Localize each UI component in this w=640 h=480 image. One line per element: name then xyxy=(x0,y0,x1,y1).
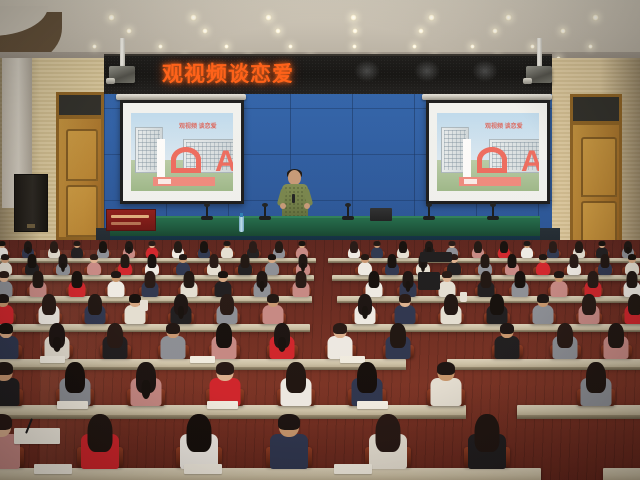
ceiling-downlight xyxy=(505,14,512,21)
audience-member-hair xyxy=(399,294,411,303)
audience-member-hair xyxy=(490,294,504,315)
audience-member-hair xyxy=(144,271,155,288)
audience-member xyxy=(207,363,242,403)
audience-member-hair xyxy=(147,254,156,268)
audience-member xyxy=(101,324,130,357)
ceiling-downlight xyxy=(92,44,97,49)
audience-member xyxy=(0,363,21,403)
ceiling-downlight xyxy=(588,44,593,49)
audience-member xyxy=(551,324,580,357)
ceiling-downlight xyxy=(352,28,358,34)
audience-member-hair xyxy=(474,241,482,253)
left-projection-screen: 观视频 谈恋爱 A xyxy=(120,100,244,204)
audience-member xyxy=(128,363,163,403)
audience-member-hair xyxy=(549,241,557,253)
audience-member-hair xyxy=(107,323,123,348)
door-right-transom xyxy=(570,94,622,124)
ceiling-downlight xyxy=(265,14,272,21)
audience-member xyxy=(291,272,311,294)
led-banner: 观视频谈恋爱 xyxy=(104,54,552,94)
audience-member xyxy=(510,272,530,294)
presenter-laptop xyxy=(370,208,392,221)
audience-member xyxy=(70,241,84,257)
right-projector-pole xyxy=(537,38,542,68)
audience-member xyxy=(353,295,377,322)
audience-member-hair xyxy=(387,254,396,268)
audience-member-hair xyxy=(350,241,358,253)
audience-member-torso xyxy=(71,247,83,258)
audience-member-hair xyxy=(295,271,306,288)
audience-member-hair xyxy=(444,294,458,315)
audience-member xyxy=(485,295,509,322)
audience-member xyxy=(623,295,640,322)
audience-member-ponytail xyxy=(26,247,30,254)
audience-member xyxy=(531,295,555,322)
desk-paper xyxy=(184,464,222,474)
audience-member-torso xyxy=(263,305,284,324)
desk-paper xyxy=(34,464,72,474)
audience-member-ponytail xyxy=(626,247,630,254)
audience-member-hair xyxy=(569,254,578,268)
led-glare-3 xyxy=(472,60,498,82)
desk-paper xyxy=(357,401,388,409)
desk-edge xyxy=(517,415,640,419)
slide-base-plate-r xyxy=(464,179,477,184)
audience-member-hair xyxy=(73,241,80,246)
audience-member-hair xyxy=(537,294,549,303)
audience-member xyxy=(78,415,122,464)
wall-speaker-badge xyxy=(27,224,35,228)
audience-member-hair xyxy=(586,362,606,393)
audience-member xyxy=(140,272,160,294)
ceiling-downlight xyxy=(560,28,566,34)
note-paper xyxy=(14,428,60,444)
audience-member-hair xyxy=(361,254,369,260)
audience-member-hair xyxy=(448,241,455,246)
audience-member-hair xyxy=(626,271,637,288)
audience-member xyxy=(37,295,61,322)
audience-member-torso xyxy=(0,378,19,406)
podium-sign-line-2 xyxy=(111,222,141,225)
audience-member-torso xyxy=(521,247,533,258)
desk-cup xyxy=(460,292,467,302)
audience-member-torso xyxy=(270,434,308,469)
audience-member-torso xyxy=(495,336,520,359)
presenter-hand-left xyxy=(280,203,286,209)
audience-member xyxy=(43,324,72,357)
ceiling-downlight xyxy=(352,44,357,49)
audience-member xyxy=(236,255,253,274)
audience-member-hair xyxy=(298,241,305,246)
audience-member-hair xyxy=(507,254,516,268)
audience-member-ponytail xyxy=(141,380,150,399)
slide-letter-a-l: A xyxy=(215,147,233,177)
audience-member-hair xyxy=(437,362,455,375)
door-right-panel-upper xyxy=(581,137,617,197)
audience-member-ponytail xyxy=(61,263,65,272)
ceiling-downlight xyxy=(108,14,115,21)
led-glare-2 xyxy=(414,60,440,82)
audience-member-ponytail xyxy=(421,263,425,272)
audience-member-hair xyxy=(249,241,257,253)
ceiling-downlight xyxy=(275,28,281,34)
audience-member-hair xyxy=(186,414,211,452)
audience-member-hair xyxy=(174,241,182,253)
audience-member xyxy=(278,363,313,403)
door-left-transom xyxy=(56,92,104,118)
presenter-head xyxy=(288,170,301,185)
audience-member-torso xyxy=(536,262,550,275)
door-left-panel-upper xyxy=(66,129,98,181)
desk-row xyxy=(0,468,541,480)
audience-member-hair xyxy=(179,254,187,260)
audience-member-hair xyxy=(216,323,232,348)
led-banner-text: 观视频谈恋爱 xyxy=(162,62,294,88)
slide-letter-a-r: A xyxy=(521,147,539,177)
left-projector-lens xyxy=(106,78,115,84)
ceiling-downlight xyxy=(412,44,417,49)
audience-member xyxy=(384,324,413,357)
audience-member-hair xyxy=(598,241,605,246)
audience-member-hair xyxy=(0,414,12,430)
audience-member xyxy=(602,324,631,357)
audience-member-hair xyxy=(275,241,283,253)
audience-member xyxy=(267,415,311,464)
audience-member-hair xyxy=(220,294,234,315)
audience-member-hair xyxy=(27,254,36,268)
audience-member-hair xyxy=(209,254,218,268)
audience-member-hair xyxy=(628,254,636,260)
audience-member-hair xyxy=(278,414,300,430)
audience-member-hair xyxy=(65,362,85,393)
audience-member-torso xyxy=(0,305,14,324)
audience-member-hair xyxy=(183,271,194,288)
desk-microphone-base-4 xyxy=(423,216,435,220)
audience-member-ponytail xyxy=(362,306,368,319)
audience-member-hair xyxy=(587,271,598,288)
desk-paper xyxy=(40,356,65,363)
audience-member-hair xyxy=(368,271,379,288)
audience-member xyxy=(465,415,509,464)
podium-sign-line-1 xyxy=(111,215,149,218)
audience-member xyxy=(261,295,285,322)
ceiling-downlight xyxy=(418,28,424,34)
audience-member-hair xyxy=(500,241,508,253)
desk-microphone-base-3 xyxy=(342,216,354,220)
desk-paper xyxy=(207,401,238,409)
audience-member xyxy=(268,324,297,357)
audience-member xyxy=(549,272,569,294)
audience-member-hair xyxy=(480,254,489,268)
audience-member-hair xyxy=(90,254,98,260)
audience-member xyxy=(622,272,640,294)
podium-sign xyxy=(106,209,156,231)
ceiling-downlight xyxy=(288,44,293,49)
audience-member-ponytail xyxy=(259,281,264,292)
audience-member xyxy=(0,324,21,357)
audience-member xyxy=(0,272,14,294)
right-projector-lens xyxy=(523,78,532,84)
backpack xyxy=(418,272,440,290)
audience-member xyxy=(215,295,239,322)
audience-member-hair xyxy=(87,414,112,452)
audience-member xyxy=(57,363,92,403)
audience-member-hair xyxy=(480,271,491,288)
audience-member-hair xyxy=(42,294,56,315)
audience-member-torso xyxy=(430,378,461,406)
audience-member-hair xyxy=(628,294,640,315)
right-projection-screen: 观视频 谈恋爱 A xyxy=(426,100,550,204)
desk-microphone-base-1 xyxy=(201,216,213,220)
audience-member-hair xyxy=(474,414,499,452)
audience-member xyxy=(252,272,272,294)
audience-member xyxy=(364,272,384,294)
ceiling-downlight xyxy=(202,28,208,34)
lecture-hall-photo: 观视频谈恋爱 观视频 谈恋爱 A 观视 xyxy=(0,0,640,480)
audience-member-torso xyxy=(395,305,416,324)
right-slide: 观视频 谈恋爱 A xyxy=(437,113,539,191)
audience-member-hair xyxy=(218,271,228,278)
audience-member xyxy=(213,272,233,294)
audience-member-hair xyxy=(240,254,249,268)
audience-member-hair xyxy=(539,254,547,260)
desk-microphone-base-5 xyxy=(487,216,499,220)
audience-member xyxy=(393,295,417,322)
slide-base-plate-l xyxy=(158,179,171,184)
desk-row xyxy=(603,468,640,480)
audience-member-hair xyxy=(50,241,58,253)
wall-speaker xyxy=(14,174,48,232)
audience-member-torso xyxy=(0,336,19,359)
slide-letter-i-l xyxy=(157,139,165,177)
presenter-hand-right xyxy=(304,203,310,209)
audience-member xyxy=(85,255,102,274)
audience-member xyxy=(577,295,601,322)
desk-paper xyxy=(190,356,215,363)
audience-member xyxy=(159,324,188,357)
audience-member-hair xyxy=(557,323,573,348)
ceiling-downlight xyxy=(158,44,163,49)
ceiling-downlight xyxy=(530,44,535,49)
audience-member xyxy=(366,415,410,464)
water-bottle xyxy=(239,216,244,232)
audience-member-hair xyxy=(442,271,452,278)
audience-member-torso xyxy=(87,262,101,275)
led-glare-1 xyxy=(354,60,380,82)
audience-member-hair xyxy=(600,254,609,268)
slide-heart-r xyxy=(477,147,507,173)
left-slide: 观视频 谈恋爱 A xyxy=(131,113,233,191)
ceiling-downlight xyxy=(126,28,132,34)
audience-member-hair xyxy=(166,323,180,334)
ceiling-downlight xyxy=(492,28,498,34)
door-left[interactable] xyxy=(56,116,104,240)
audience-member-torso xyxy=(107,281,124,297)
audience-member xyxy=(67,272,87,294)
audience-member-hair xyxy=(99,241,107,253)
audience-member-hair xyxy=(373,241,380,246)
desk-cup xyxy=(140,300,148,311)
audience-member-hair xyxy=(575,241,583,253)
audience-member-hair xyxy=(375,414,400,452)
audience-member-hair xyxy=(223,241,230,246)
audience-member xyxy=(583,272,603,294)
audience-member-hair xyxy=(268,254,276,260)
desk-paper xyxy=(57,401,88,409)
audience-member-hair xyxy=(514,271,525,288)
audience-member-hair xyxy=(216,362,234,375)
ceiling-downlight xyxy=(592,14,599,21)
audience-member xyxy=(210,324,239,357)
audience-member-hair xyxy=(608,323,624,348)
audience-member-hair xyxy=(286,362,306,393)
slide-title-r: 观视频 谈恋爱 xyxy=(485,121,523,130)
audience-member-hair xyxy=(523,241,530,246)
audience-member-hair xyxy=(554,271,564,278)
audience-member-hair xyxy=(32,271,43,288)
audience-member xyxy=(106,272,126,294)
audience-member-hair xyxy=(71,271,82,288)
audience-member-hair xyxy=(120,254,129,268)
audience-member-ponytail xyxy=(278,337,286,352)
audience-member xyxy=(179,272,199,294)
audience-member-ponytail xyxy=(405,281,410,292)
audience-member-hair xyxy=(399,241,407,253)
slide-title-l: 观视频 谈恋爱 xyxy=(179,121,217,130)
audience-member-hair xyxy=(111,271,121,278)
audience-member xyxy=(349,363,384,403)
audience-member-ponytail xyxy=(127,247,131,254)
audience-member xyxy=(28,272,48,294)
audience-member-hair xyxy=(88,294,102,315)
desk-paper xyxy=(334,464,372,474)
desk-microphone-base-2 xyxy=(259,216,271,220)
audience-member-hair xyxy=(148,241,155,246)
audience-member xyxy=(476,272,496,294)
audience-member-torso xyxy=(161,336,186,359)
audience-member-hair xyxy=(0,294,9,303)
audience-member xyxy=(428,363,463,403)
audience-member xyxy=(578,363,613,403)
audience-member-hair xyxy=(582,294,596,315)
audience-member-hair xyxy=(1,254,9,260)
audience-member xyxy=(520,241,534,257)
audience-member-hair xyxy=(500,323,514,334)
ceiling-downlight xyxy=(190,14,197,21)
audience-member xyxy=(83,295,107,322)
backpack xyxy=(420,252,452,262)
handheld-microphone xyxy=(292,194,295,203)
audience-member-ponytail xyxy=(53,337,61,352)
audience-member-hair xyxy=(357,362,377,393)
audience-member-hair xyxy=(0,323,13,334)
audience-member-hair xyxy=(267,294,279,303)
audience-member xyxy=(169,295,193,322)
audience-member-ponytail xyxy=(178,306,184,319)
audience-member-hair xyxy=(0,241,5,246)
audience-member xyxy=(326,324,355,357)
ceiling-downlight xyxy=(350,14,357,21)
audience-member-torso xyxy=(533,305,554,324)
audience-member-hair xyxy=(333,323,347,334)
ceiling-downlight xyxy=(470,44,475,49)
audience-member-hair xyxy=(0,362,13,375)
left-projector-pole xyxy=(120,38,125,68)
slide-letter-i-r xyxy=(463,139,471,177)
audience-member-torso xyxy=(221,247,233,258)
ceiling-downlight xyxy=(428,14,435,21)
audience-member xyxy=(398,272,418,294)
door-left-panel-lower xyxy=(66,185,98,237)
ceiling-downlight xyxy=(224,44,229,49)
audience-member-hair xyxy=(390,323,406,348)
audience-member xyxy=(493,324,522,357)
audience-member-hair xyxy=(0,271,9,278)
audience-member-hair xyxy=(200,241,208,253)
slide-heart-l xyxy=(171,147,201,173)
audience-member xyxy=(0,295,15,322)
audience-member xyxy=(177,415,221,464)
